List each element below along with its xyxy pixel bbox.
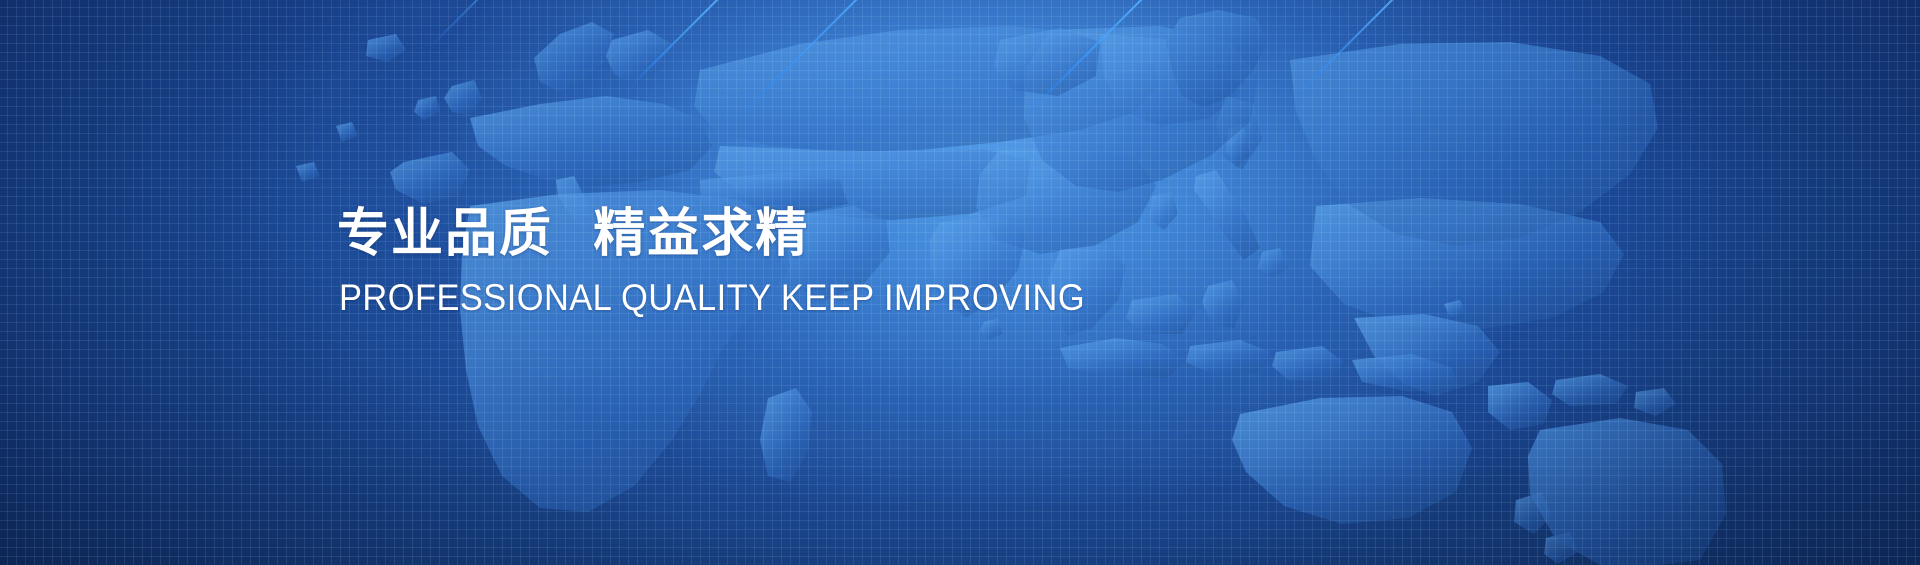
banner-subheadline-english: PROFESSIONAL QUALITY KEEP IMPROVING — [339, 279, 1085, 316]
hero-banner: 专业品质 精益求精 PROFESSIONAL QUALITY KEEP IMPR… — [0, 0, 1920, 565]
banner-headline-chinese: 专业品质 精益求精 — [337, 205, 1141, 263]
banner-copy: 专业品质 精益求精 PROFESSIONAL QUALITY KEEP IMPR… — [337, 205, 1141, 316]
